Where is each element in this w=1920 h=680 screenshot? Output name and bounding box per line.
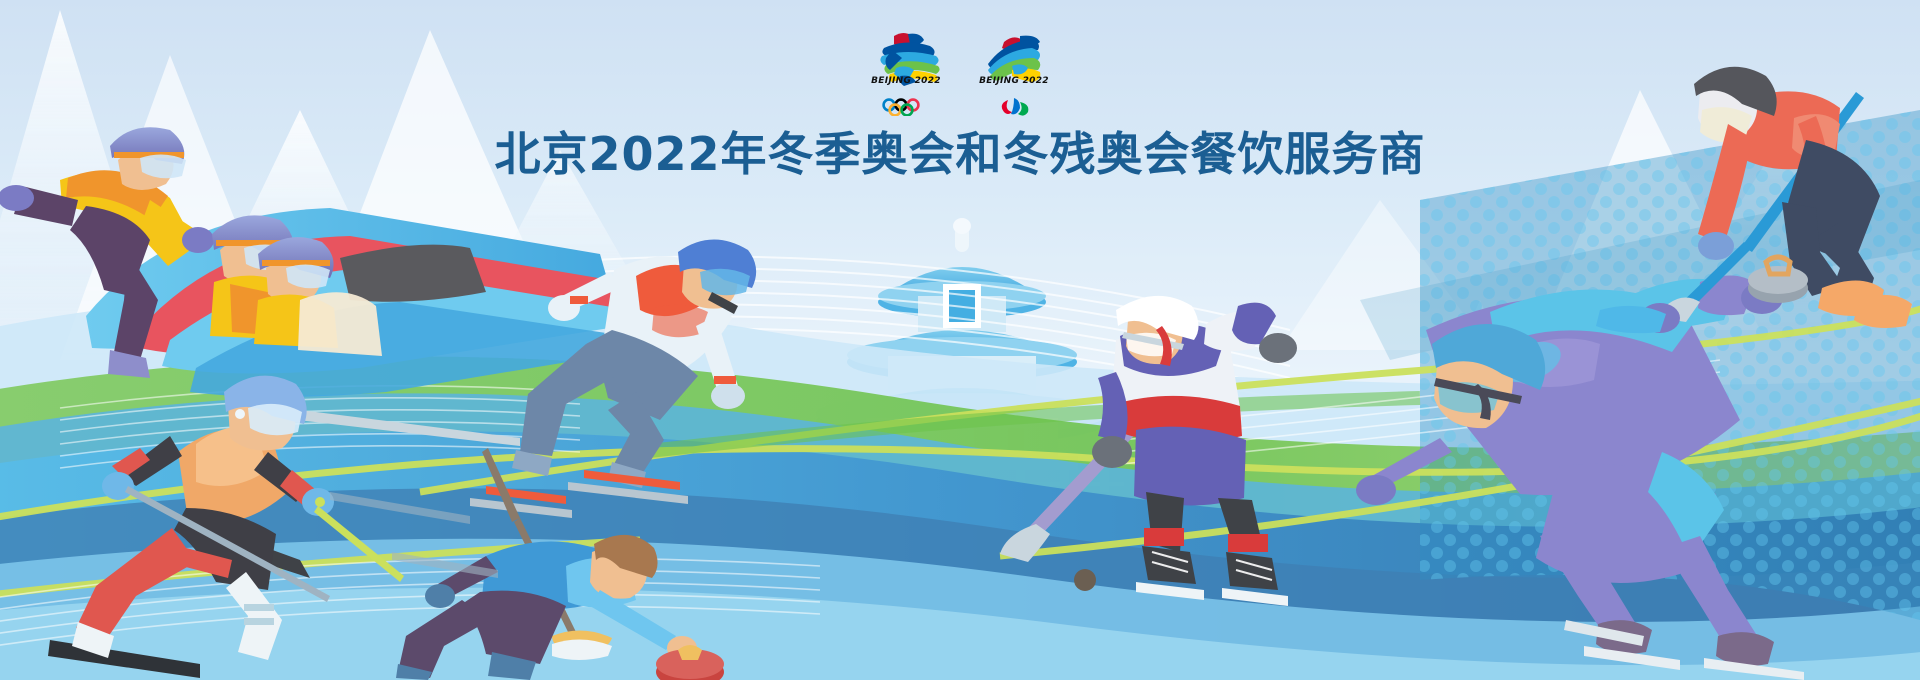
paralympic-wordmark: BEIJING 2022 (968, 76, 1060, 86)
paralympic-emblem: BEIJING 2022 (968, 24, 1060, 116)
athlete-speed-skater-right (1356, 275, 1804, 680)
olympic-banner: BEIJING 2022 BEIJING 2022 (0, 0, 1920, 680)
athlete-ice-hockey-player (1000, 296, 1297, 606)
paralympic-emblem-graphic (968, 24, 1060, 116)
olympic-emblem: BEIJING 2022 (860, 24, 952, 116)
emblem-group: BEIJING 2022 BEIJING 2022 (860, 24, 1060, 116)
olympic-emblem-graphic (860, 24, 952, 116)
olympic-wordmark: BEIJING 2022 (860, 76, 952, 86)
